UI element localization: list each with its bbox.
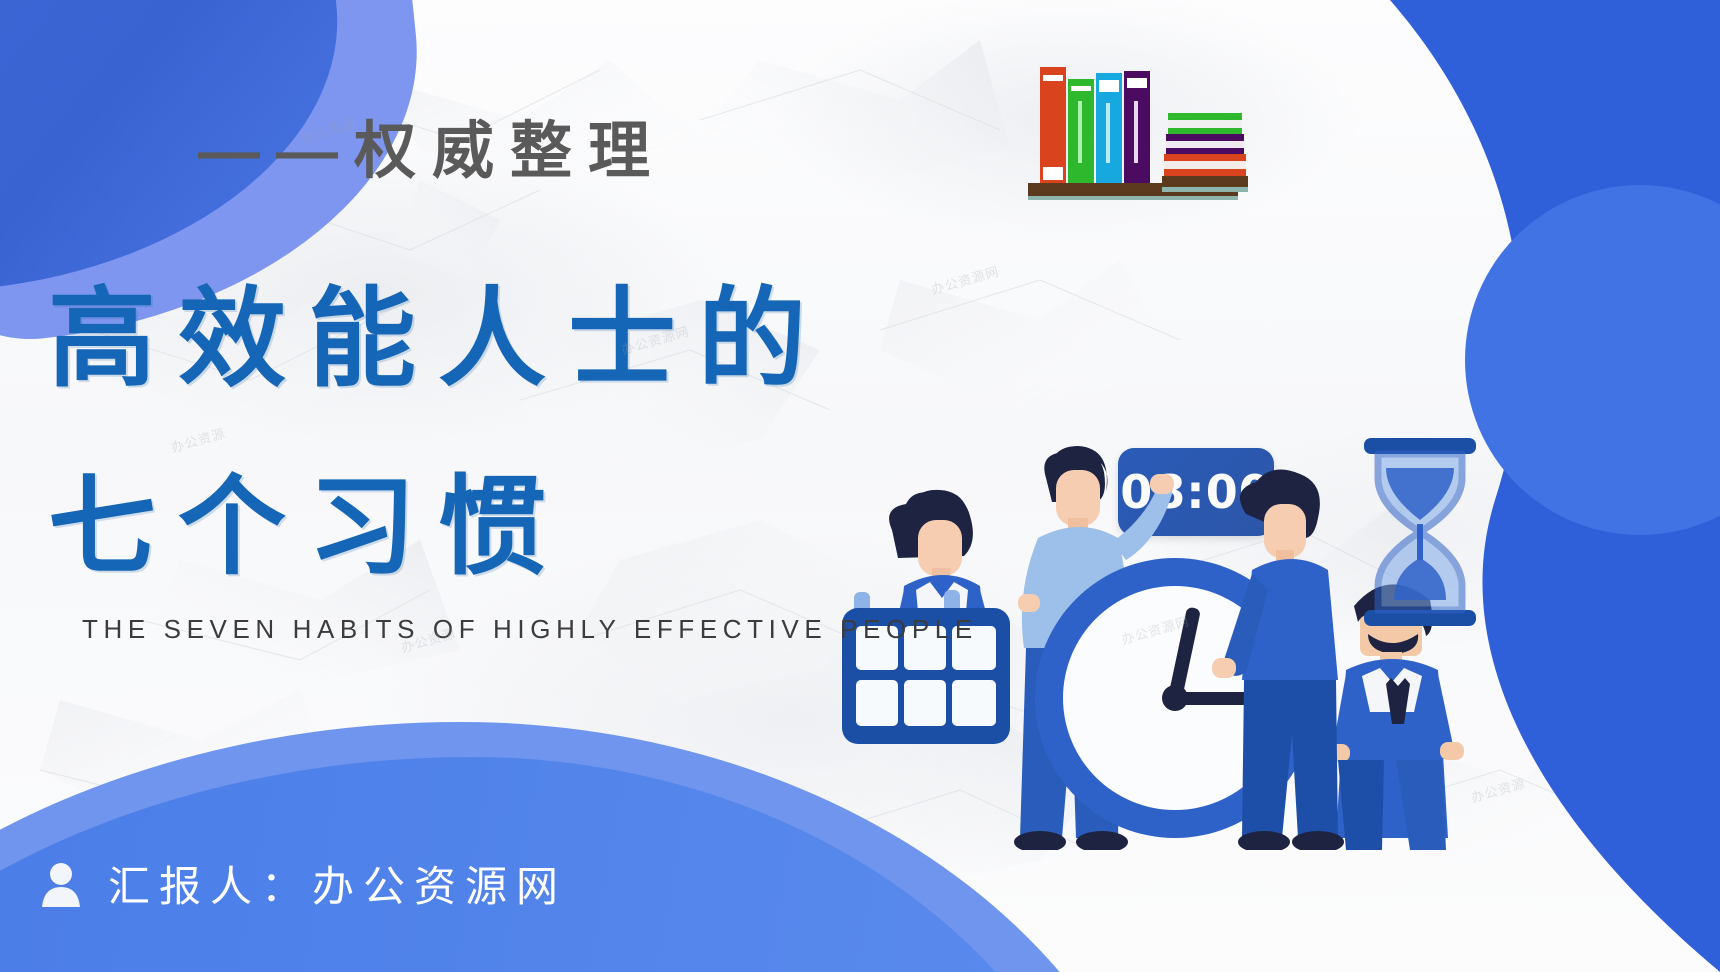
title-line-2: 七个习惯 — [48, 440, 568, 596]
hourglass-icon — [1350, 432, 1490, 632]
person-icon — [40, 861, 82, 907]
presenter-label: 汇报人：办公资源网 — [108, 853, 567, 914]
presenter-footer: 汇报人：办公资源网 — [40, 853, 567, 914]
sub-heading: ——权威整理 — [198, 100, 666, 190]
books-icon — [1020, 55, 1280, 200]
presentation-slide: 08:00 — [0, 0, 1720, 972]
title-line-1: 高效能人士的 — [48, 252, 828, 408]
watermark: 办公资源网 — [929, 261, 1002, 299]
english-subtitle: THE SEVEN HABITS OF HIGHLY EFFECTIVE PEO… — [82, 614, 978, 645]
